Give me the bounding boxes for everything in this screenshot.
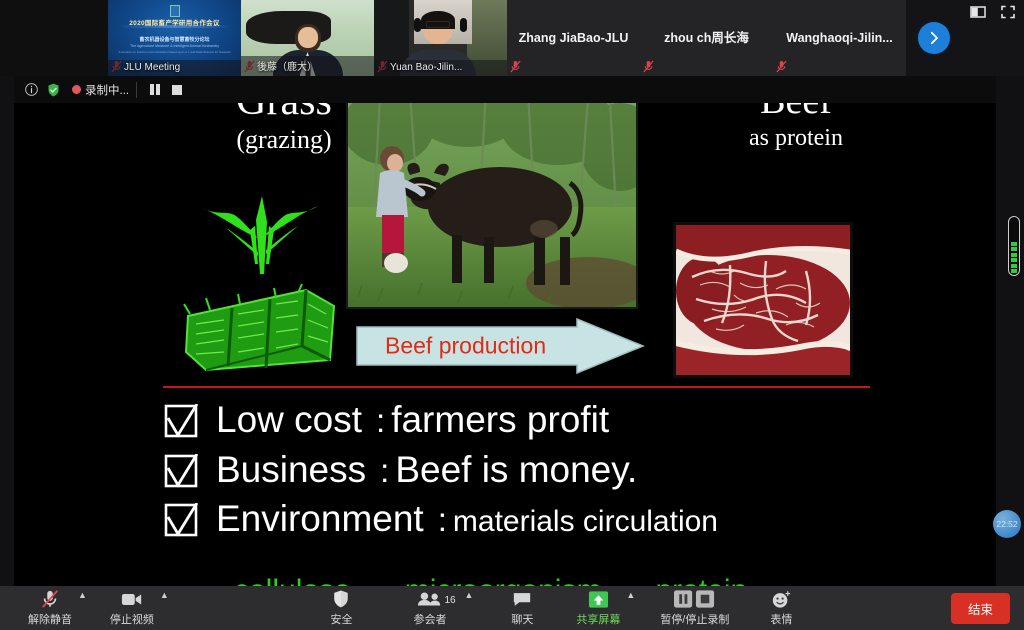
video-options-caret[interactable]: ▲ <box>160 586 172 630</box>
security-label: 安全 <box>330 611 352 627</box>
toolbar-divider <box>136 82 137 98</box>
stop-video-label: 停止视频 <box>110 611 154 627</box>
reactions-button[interactable]: 表情 <box>759 586 803 630</box>
material-cycle-row: cellulose microorganism protein <box>234 574 934 586</box>
participant-name-label: Yuan Bao-Jilin... <box>374 60 507 76</box>
filmstrip-left-pad <box>0 0 108 76</box>
participant-face <box>298 27 318 48</box>
cycle-item: microorganism <box>405 574 602 586</box>
beef-production-arrow-banner: Beef production <box>355 317 645 375</box>
chat-label: 聊天 <box>511 611 533 627</box>
eyeglasses-icon <box>426 21 450 28</box>
checked-checkbox-icon <box>164 503 198 537</box>
zoom-meeting-window: 2020国际畜产学研用合作会议 畜农机器设备与智慧畜牧分论坛 The Agric… <box>0 0 1024 630</box>
participants-count-badge: 16 <box>444 595 455 606</box>
chevron-up-icon: ▲ <box>78 590 90 613</box>
unmute-label: 解除静音 <box>28 611 72 627</box>
meeting-toolbar: 解除静音 ▲ 停止视频 ▲ 安全 参会者 16 ▲ <box>0 586 1024 630</box>
checklist-row: Business : Beef is money. <box>164 448 994 492</box>
shield-icon <box>332 590 350 609</box>
chevron-up-icon: ▲ <box>160 590 172 613</box>
stop-video-button[interactable]: 停止视频 <box>104 586 160 630</box>
cycle-item: protein <box>655 574 747 586</box>
view-layout-icon[interactable] <box>970 4 986 20</box>
checklist-colon: : <box>366 452 395 490</box>
smiley-reaction-icon <box>771 590 791 609</box>
video-camera-icon <box>121 590 143 609</box>
thumb-slide-subtitle-cn: 畜农机器设备与智慧畜牧分论坛 <box>139 36 209 43</box>
chat-button[interactable]: 聊天 <box>500 586 544 630</box>
slide-divider <box>163 386 870 388</box>
grass-plant-icon <box>192 186 332 276</box>
cycle-item: cellulose <box>234 574 351 586</box>
info-icon[interactable] <box>20 79 42 101</box>
checklist-key: Environment <box>216 498 424 541</box>
checklist-key: Business <box>216 449 366 492</box>
participant-thumbnail-goto[interactable]: 後藤（鹿大） <box>241 0 374 76</box>
share-screen-up-arrow-icon <box>588 590 609 609</box>
participant-name-label: Zhang JiaBao-JLU <box>507 0 640 76</box>
pause-stop-recording-label: 暂停/停止录制 <box>660 611 729 627</box>
chevron-up-icon: ▲ <box>626 590 638 613</box>
shared-screen-region: 录制中... Grass (grazing) Beef as protein <box>14 76 996 586</box>
chat-bubble-icon <box>512 590 532 609</box>
recording-status-label: 录制中... <box>85 82 129 98</box>
chevron-right-icon[interactable] <box>918 22 950 54</box>
checklist-value: Beef is money. <box>395 449 637 492</box>
audio-level-meter-icon <box>1008 216 1020 276</box>
participants-button[interactable]: 参会者 16 <box>407 586 452 630</box>
chevron-up-icon: ▲ <box>464 590 476 613</box>
checklist-colon: : <box>424 501 453 539</box>
checklist-value: farmers profit <box>391 399 609 442</box>
participant-name-label: zhou ch周长海 <box>640 0 773 76</box>
participants-options-caret[interactable]: ▲ <box>464 586 476 630</box>
pause-stop-recording-button[interactable]: 暂停/停止录制 <box>654 586 735 630</box>
muted-microphone-icon <box>776 60 787 73</box>
thumb-slide-footnote: A seminar on internet communication base… <box>118 50 230 54</box>
checklist-key: Low cost <box>216 399 362 442</box>
pause-icon[interactable] <box>144 79 166 101</box>
share-screen-button[interactable]: 共享屏幕 <box>570 586 626 630</box>
window-controls <box>970 4 1016 20</box>
checklist-colon: : <box>362 402 391 440</box>
reactions-label: 表情 <box>770 611 792 627</box>
participant-filmstrip: 2020国际畜产学研用合作会议 畜农机器设备与智慧畜牧分论坛 The Agric… <box>0 0 1024 76</box>
conference-emblem-icon <box>170 5 180 17</box>
thumb-slide-rule <box>117 25 231 28</box>
presentation-slide: Grass (grazing) Beef as protein <box>14 76 996 586</box>
checked-checkbox-icon <box>164 404 198 438</box>
security-button[interactable]: 安全 <box>319 586 363 630</box>
muted-microphone-icon <box>510 60 521 73</box>
slide-checklist: Low cost : farmers profit Business : Bee… <box>164 398 994 547</box>
meeting-timer-badge: 22:52 <box>993 510 1021 538</box>
hay-bale-icon <box>180 274 340 374</box>
end-meeting-button[interactable]: 结束 <box>951 593 1010 624</box>
participant-thumbnail-wanghaoqi[interactable]: Wanghaoqi-Jilin... <box>773 0 906 76</box>
checked-checkbox-icon <box>164 454 198 488</box>
participant-name-label: JLU Meeting <box>108 60 241 76</box>
checklist-value: materials circulation <box>453 505 718 540</box>
beef-production-label: Beef production <box>385 333 546 360</box>
recording-dot-icon <box>72 85 81 94</box>
participant-thumbnail-zhou-ch[interactable]: zhou ch周长海 <box>640 0 773 76</box>
fullscreen-icon[interactable] <box>1000 4 1016 20</box>
headphone-left-icon <box>414 18 421 32</box>
thumb-slide-subtitle-en: The Agriculture Measure & Intelligent An… <box>130 44 219 48</box>
cow-grazing-photo <box>346 85 638 309</box>
headphone-right-icon <box>460 18 467 32</box>
participant-thumbnail-zhang-jiabao[interactable]: Zhang JiaBao-JLU <box>507 0 640 76</box>
recording-status-bar: 录制中... <box>14 76 996 103</box>
participant-thumbnail-yuan-bao[interactable]: Yuan Bao-Jilin... <box>374 0 507 76</box>
checklist-row: Low cost : farmers profit <box>164 398 994 442</box>
share-options-caret[interactable]: ▲ <box>626 586 638 630</box>
participants-icon <box>417 590 443 609</box>
filmstrip-next-page[interactable] <box>906 0 962 76</box>
muted-microphone-icon <box>643 60 654 73</box>
marbled-beef-photo <box>673 222 853 378</box>
participant-name-label: Wanghaoqi-Jilin... <box>773 0 906 76</box>
microphone-muted-icon <box>40 590 60 609</box>
audio-options-caret[interactable]: ▲ <box>78 586 90 630</box>
participant-thumbnail-jlu-meeting[interactable]: 2020国际畜产学研用合作会议 畜农机器设备与智慧畜牧分论坛 The Agric… <box>108 0 241 76</box>
checklist-row: Environment : materials circulation <box>164 497 994 541</box>
share-screen-label: 共享屏幕 <box>576 611 620 627</box>
heading-beef-sub: as protein <box>686 122 906 156</box>
stop-icon[interactable] <box>166 79 188 101</box>
unmute-button[interactable]: 解除静音 <box>22 586 78 630</box>
encryption-shield-icon[interactable] <box>42 79 64 101</box>
participants-label: 参会者 <box>413 611 446 627</box>
participant-name-label: 後藤（鹿大） <box>241 56 374 76</box>
pause-stop-record-icon <box>674 590 716 609</box>
